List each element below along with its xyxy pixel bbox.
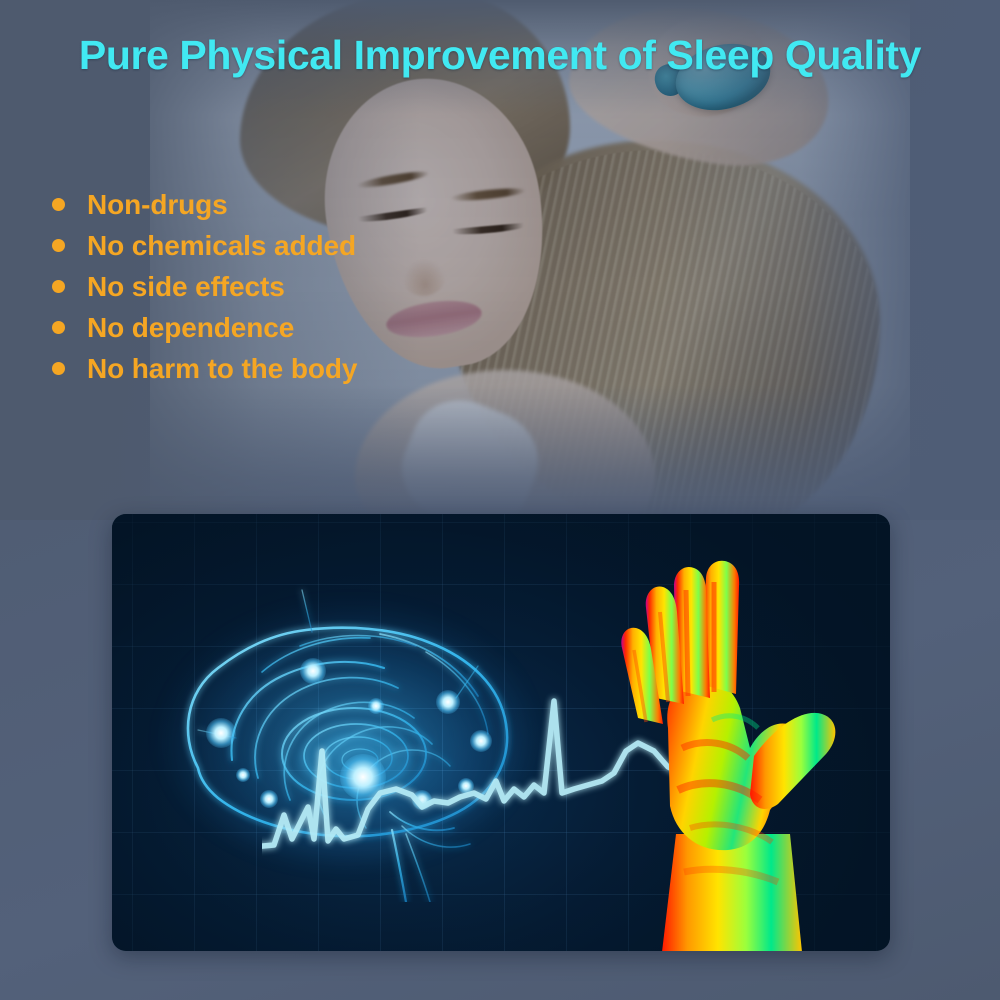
tech-illustration-panel	[112, 514, 890, 951]
bullet-icon	[52, 198, 65, 211]
thermal-hand-icon	[564, 542, 884, 951]
synapse-node	[236, 768, 250, 782]
benefit-label: Non-drugs	[87, 189, 228, 221]
benefit-label: No harm to the body	[87, 353, 357, 385]
bullet-icon	[52, 239, 65, 252]
page-title: Pure Physical Improvement of Sleep Quali…	[0, 32, 1000, 79]
bullet-icon	[52, 321, 65, 334]
poster-root: Pure Physical Improvement of Sleep Quali…	[0, 0, 1000, 1000]
list-item: No chemicals added	[52, 225, 472, 266]
benefits-list: Non-drugs No chemicals added No side eff…	[52, 184, 472, 389]
list-item: No dependence	[52, 307, 472, 348]
thermal-hand-illustration	[564, 542, 884, 951]
list-item: No harm to the body	[52, 348, 472, 389]
list-item: Non-drugs	[52, 184, 472, 225]
benefit-label: No dependence	[87, 312, 294, 344]
synapse-node	[300, 658, 326, 684]
synapse-node	[206, 718, 236, 748]
benefit-label: No side effects	[87, 271, 285, 303]
bullet-icon	[52, 280, 65, 293]
bullet-icon	[52, 362, 65, 375]
benefit-label: No chemicals added	[87, 230, 356, 262]
list-item: No side effects	[52, 266, 472, 307]
